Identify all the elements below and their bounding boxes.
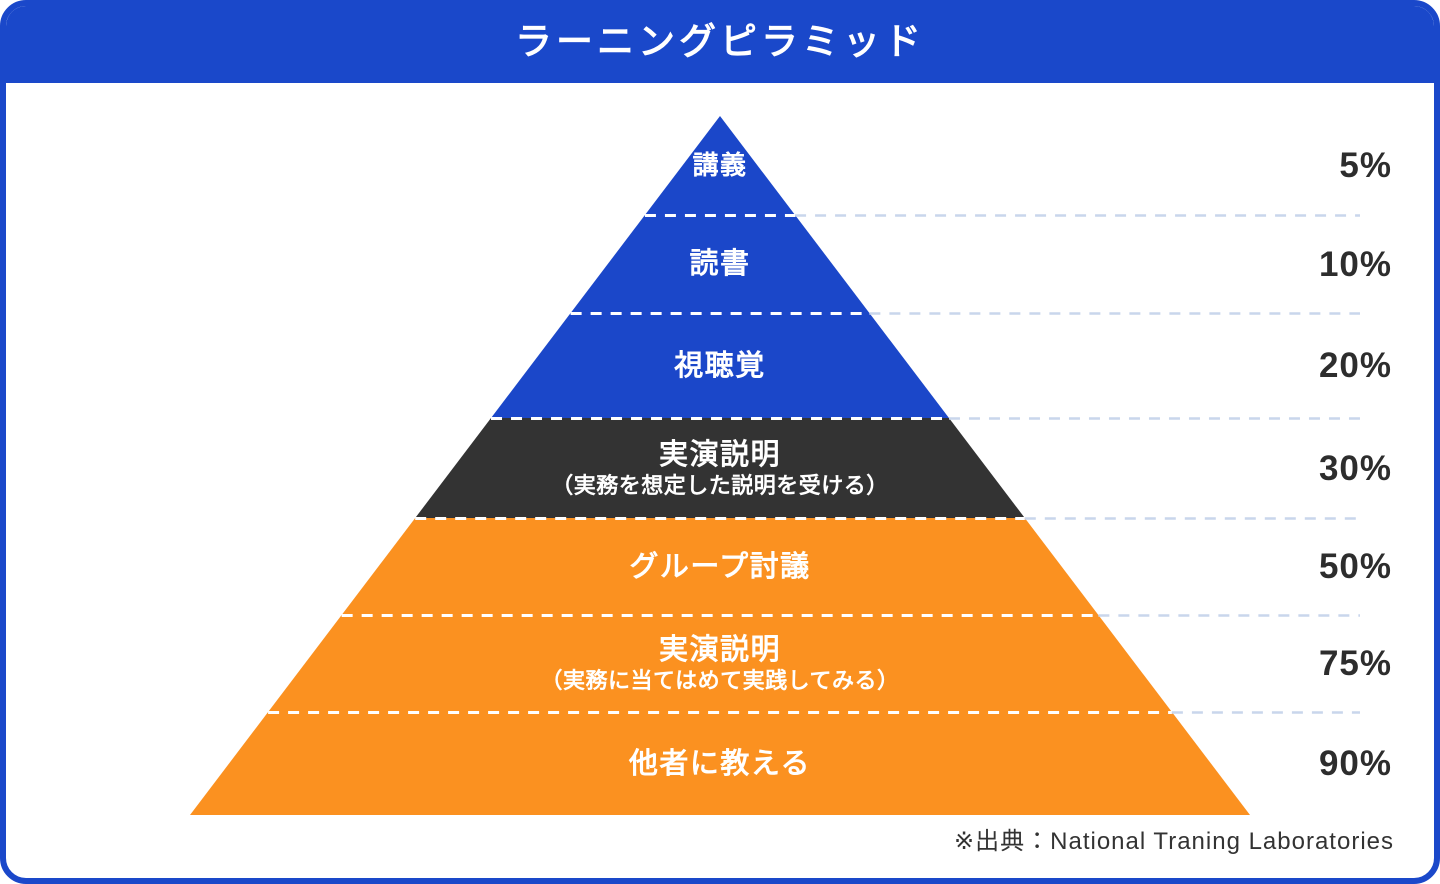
tier-percent-1: 5% <box>1242 148 1392 183</box>
tier-percent-3: 20% <box>1242 348 1392 383</box>
pyramid-tier-2 <box>571 215 870 313</box>
tier-percent-5: 50% <box>1242 549 1392 584</box>
pyramid-tier-6 <box>268 615 1172 712</box>
pyramid-tier-1 <box>645 116 795 215</box>
pyramid-tier-5 <box>342 518 1099 615</box>
tier-percent-2: 10% <box>1242 247 1392 282</box>
tier-percent-4: 30% <box>1242 451 1392 486</box>
pyramid-tier-3 <box>491 313 949 418</box>
pyramid-stage: 講義読書視聴覚実演説明（実務を想定した説明を受ける）グループ討議実演説明（実務に… <box>0 0 1440 884</box>
pyramid-bands <box>190 116 1250 815</box>
tier-percent-6: 75% <box>1242 646 1392 681</box>
pyramid-tier-4 <box>415 418 1025 518</box>
pyramid-graphic <box>0 0 1440 884</box>
learning-pyramid-card: ラーニングピラミッド 講義読書視聴覚実演説明（実務を想定した説明を受ける）グルー… <box>0 0 1440 884</box>
pyramid-tier-7 <box>190 712 1250 815</box>
tier-percent-7: 90% <box>1242 746 1392 781</box>
source-note: ※出典：National Traning Laboratories <box>954 821 1394 856</box>
